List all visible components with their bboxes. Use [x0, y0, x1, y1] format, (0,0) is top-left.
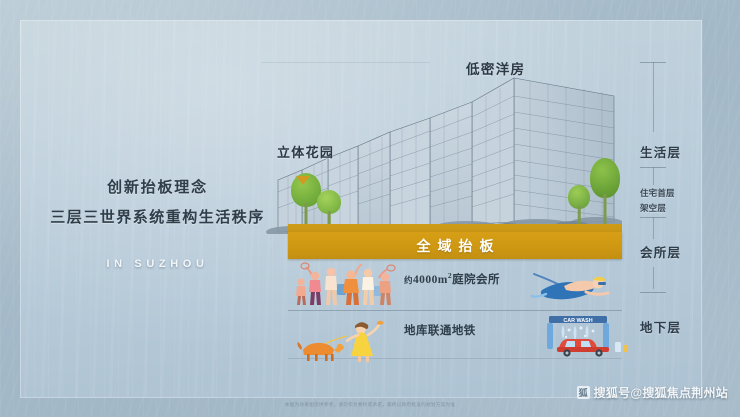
- callout-low-density: 低密洋房: [466, 58, 525, 78]
- disclaimer-text: 本图为效果图仅供参考，请勿作为要约或承诺，最终以政府批准的规划方案为准: [235, 402, 505, 408]
- caption-clubhouse-approx: 约: [404, 275, 413, 285]
- swimmer-illustration: [528, 268, 624, 306]
- watermark-text: 搜狐号@搜狐焦点荆州站: [594, 384, 728, 401]
- car-wash-sign-text: CAR WASH: [563, 318, 592, 324]
- car-wash-illustration: CAR WASH: [535, 312, 633, 360]
- tree-illustration: [588, 158, 622, 226]
- axis-vertical-bar: [653, 267, 654, 289]
- group-of-people-illustration: [293, 262, 405, 306]
- axis-vertical-bar: [653, 217, 654, 239]
- axis-label-stilt-floor: 架空层: [640, 202, 702, 214]
- axis-label-living-tier: 生活层: [640, 142, 702, 161]
- axis-vertical-bar: [653, 167, 654, 185]
- axis-label-clubhouse-tier: 会所层: [640, 242, 702, 261]
- caption-metro: 地库联通地铁: [404, 322, 476, 338]
- axis-label-basement-tier: 地下层: [640, 317, 702, 336]
- sohu-logo-icon: 狐: [577, 386, 590, 399]
- tree-illustration: [567, 185, 591, 227]
- axis-vertical-bar: [653, 62, 654, 132]
- headline-line-2: 三层三世界系统重构生活秩序: [50, 206, 265, 227]
- tree-illustration: [316, 190, 342, 226]
- slide-canvas: 创新抬板理念 三层三世界系统重构生活秩序 IN SUZHOU 低密洋房 立体花园…: [0, 0, 740, 417]
- headline-line-1: 创新抬板理念: [50, 176, 265, 197]
- gold-banner: 全域抬板: [288, 232, 622, 259]
- triangle-down-icon: [296, 176, 310, 185]
- callout-vertical-garden: 立体花园: [277, 142, 334, 161]
- tier-axis: 生活层 住宅首层 架空层 会所层 地下层: [640, 62, 702, 352]
- caption-clubhouse-area: 4000m: [413, 274, 448, 286]
- axis-label-residential-ground-floor: 住宅首层: [640, 187, 702, 199]
- person-walking-dog-illustration: [295, 320, 405, 362]
- tier-divider-clubhouse: [288, 310, 622, 311]
- gold-banner-label: 全域抬板: [410, 236, 501, 256]
- caption-clubhouse-name: 庭院会所: [452, 274, 500, 286]
- watermark: 狐 搜狐号@搜狐焦点荆州站: [577, 384, 728, 401]
- tagline: IN SUZHOU: [50, 258, 265, 270]
- caption-clubhouse: 约4000m2庭院会所: [404, 271, 500, 287]
- axis-tick: [640, 292, 666, 293]
- left-copy-block: 创新抬板理念 三层三世界系统重构生活秩序 IN SUZHOU: [50, 176, 265, 270]
